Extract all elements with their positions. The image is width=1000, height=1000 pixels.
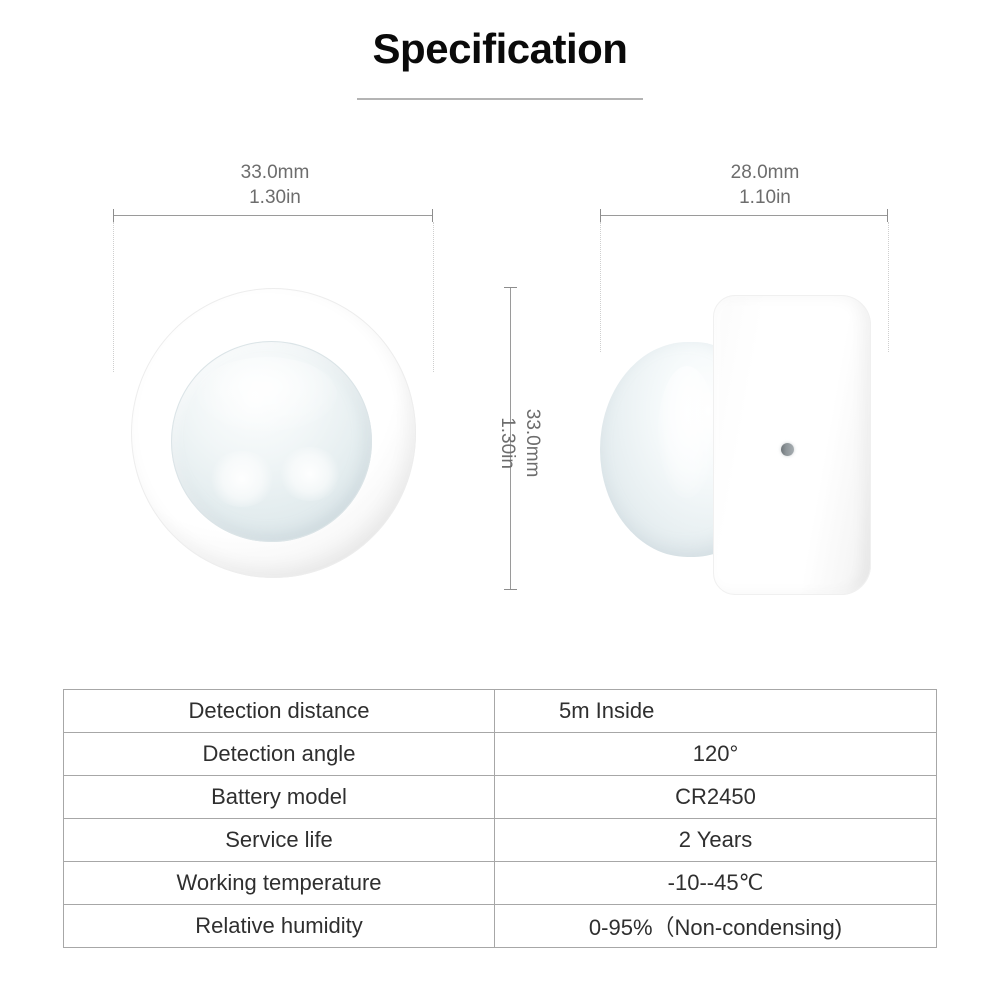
sensor-lens-dome xyxy=(171,341,372,542)
front-width-in: 1.30in xyxy=(150,185,400,210)
dimension-tick-top xyxy=(504,287,517,288)
side-width-dimension-line xyxy=(600,209,888,222)
height-dimension-label: 33.0mm 1.30in xyxy=(495,373,545,513)
spec-value-cell: 2 Years xyxy=(495,819,937,862)
front-width-dimension-line xyxy=(113,209,433,222)
spec-name-cell: Working temperature xyxy=(64,862,495,905)
front-width-mm: 33.0mm xyxy=(150,160,400,185)
table-row: Detection distance5m Inside xyxy=(64,690,937,733)
spec-value-cell: 120° xyxy=(495,733,937,776)
spec-value-cell: CR2450 xyxy=(495,776,937,819)
lens-highlight-left xyxy=(209,451,275,507)
motion-sensor-side-view xyxy=(600,280,900,600)
spec-name-cell: Relative humidity xyxy=(64,905,495,948)
side-width-mm: 28.0mm xyxy=(640,160,890,185)
sensor-body xyxy=(713,295,871,595)
table-row: Detection angle120° xyxy=(64,733,937,776)
dimension-bar xyxy=(113,215,433,216)
spec-value-cell: 0-95%（Non-condensing) xyxy=(495,905,937,948)
dimension-tick-right xyxy=(432,209,433,222)
indicator-light-icon xyxy=(781,443,794,456)
front-width-extension-left xyxy=(113,222,115,372)
front-width-dimension-label: 33.0mm 1.30in xyxy=(150,160,400,210)
height-in: 1.30in xyxy=(495,373,520,513)
spec-name-cell: Detection angle xyxy=(64,733,495,776)
side-width-dimension-label: 28.0mm 1.10in xyxy=(640,160,890,210)
table-row: Working temperature-10--45℃ xyxy=(64,862,937,905)
specification-table: Detection distance5m InsideDetection ang… xyxy=(63,689,937,948)
dimension-tick-bottom xyxy=(504,589,517,590)
title-block: Specification xyxy=(0,26,1000,100)
spec-value-cell: -10--45℃ xyxy=(495,862,937,905)
table-row: Battery modelCR2450 xyxy=(64,776,937,819)
title-divider xyxy=(357,98,643,100)
motion-sensor-front-view xyxy=(131,288,416,578)
lens-sheen-side xyxy=(658,366,716,498)
table-row: Relative humidity0-95%（Non-condensing) xyxy=(64,905,937,948)
dimension-tick-left xyxy=(113,209,114,222)
spec-name-cell: Service life xyxy=(64,819,495,862)
lens-highlight-right xyxy=(279,447,341,501)
spec-name-cell: Battery model xyxy=(64,776,495,819)
spec-value-cell: 5m Inside xyxy=(495,690,937,733)
table-row: Service life2 Years xyxy=(64,819,937,862)
spec-name-cell: Detection distance xyxy=(64,690,495,733)
dimension-tick-left xyxy=(600,209,601,222)
side-width-in: 1.10in xyxy=(640,185,890,210)
height-mm: 33.0mm xyxy=(520,373,545,513)
front-width-extension-right xyxy=(433,222,435,372)
dimension-tick-right xyxy=(887,209,888,222)
dimension-bar xyxy=(600,215,888,216)
lens-sheen xyxy=(197,357,337,431)
page-title: Specification xyxy=(0,26,1000,72)
specification-table-body: Detection distance5m InsideDetection ang… xyxy=(64,690,937,948)
